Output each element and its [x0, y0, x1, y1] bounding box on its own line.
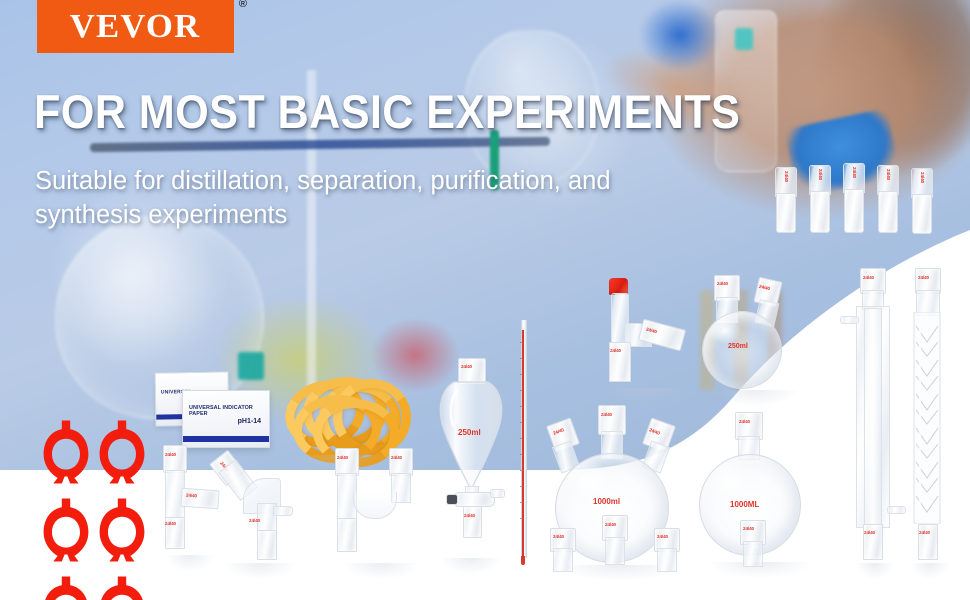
- joint-size-label: 24/40: [784, 171, 789, 182]
- keck-clip-icon: [38, 418, 94, 496]
- volume-label: 250ml: [728, 343, 748, 350]
- indicator-paper-title: UNIVERSAL INDICATOR PAPER: [189, 405, 269, 417]
- thermometer: [520, 320, 526, 565]
- joint-size-label: 24/40: [165, 452, 176, 457]
- keck-clip-icon: [94, 574, 150, 600]
- joint-size-label: 24/40: [920, 172, 925, 183]
- liebig-condenser: 24/40 24/40: [851, 268, 899, 563]
- glass-stopper: 24/40: [875, 165, 901, 239]
- u-bend-adapter: 24/40 24/40 24/40: [333, 448, 428, 563]
- keck-clip: [94, 496, 150, 574]
- keck-clip: [94, 574, 150, 600]
- product-showcase: UNIVERSAL UNIVERSAL INDICATOR PAPER pH1-…: [0, 0, 970, 600]
- joint-size-label: 24/40: [818, 169, 823, 180]
- joint-size-label: 24/40: [605, 522, 616, 527]
- joint-size-label: 24/40: [553, 534, 564, 539]
- coolant-inlet: [840, 316, 859, 324]
- keck-clips-group: [38, 418, 150, 573]
- thermometer-adapter: 24/40 24/40: [592, 278, 697, 388]
- indicator-paper-box-front: UNIVERSAL INDICATOR PAPER pH1-14: [182, 390, 270, 448]
- joint-size-label: 24/40: [863, 275, 874, 280]
- joint-size-label: 24/40: [464, 513, 475, 518]
- vevor-product-banner: VEVOR ® FOR MOST BASIC EXPERIMENTS Suita…: [0, 0, 970, 600]
- joint-size-label: 24/40: [186, 493, 197, 499]
- separatory-funnel: 24/40 250ml 24/40: [432, 358, 510, 558]
- small-joint-b: 24/40: [600, 515, 634, 570]
- glass-stopper: 24/40: [807, 165, 833, 239]
- glass-stoppers-group: 24/40 24/40 24/40 24/40 24/40: [773, 163, 933, 243]
- volume-label: 250ml: [458, 428, 481, 437]
- volume-label: 1000ml: [593, 497, 620, 506]
- joint-size-label: 24/40: [743, 526, 754, 531]
- small-joint-d: 24/40: [738, 520, 772, 572]
- joint-size-label: 24/40: [165, 521, 176, 526]
- two-neck-flask-250: 24/40 24/40 250ml: [700, 275, 810, 390]
- joint-size-label: 24/40: [739, 419, 750, 424]
- keck-clip-icon: [38, 496, 94, 574]
- joint-size-label: 24/40: [919, 530, 930, 535]
- joint-size-label: 24/40: [337, 455, 348, 460]
- ph-range-label: pH1-14: [238, 418, 261, 425]
- small-joint-c: 24/40: [652, 528, 686, 578]
- keck-clip: [94, 418, 150, 496]
- joint-size-label: 24/40: [918, 275, 929, 280]
- joint-size-label: 24/40: [461, 364, 472, 369]
- keck-clip: [38, 574, 94, 600]
- keck-clip: [38, 496, 94, 574]
- glass-stopper: 24/40: [773, 167, 799, 239]
- bend-adapter-75: 24/40 24/40: [215, 448, 305, 563]
- thermometer-bulb: [521, 556, 525, 565]
- joint-size-label: 24/40: [391, 455, 402, 460]
- vigreux-condenser: 24/40 24/40: [906, 268, 954, 563]
- coolant-outlet: [887, 506, 906, 514]
- keck-clip-icon: [94, 418, 150, 496]
- thermometer-liquid-column: [522, 330, 523, 558]
- keck-clip: [38, 418, 94, 496]
- small-joint-a: 24/40: [548, 528, 582, 578]
- latex-tubing-coil: [283, 375, 398, 455]
- joint-size-label: 24/40: [717, 281, 728, 286]
- vigreux-indentations: [912, 312, 942, 524]
- joint-size-label: 24/40: [610, 348, 621, 353]
- keck-clip-icon: [94, 496, 150, 574]
- joint-size-label: 24/40: [886, 169, 891, 180]
- volume-label: 1000ML: [730, 500, 759, 509]
- box-accent-bar: [183, 436, 269, 442]
- joint-size-label: 24/40: [657, 534, 668, 539]
- joint-size-label: 24/40: [601, 412, 612, 417]
- joint-size-label: 24/40: [249, 518, 260, 523]
- keck-clip-icon: [38, 574, 94, 600]
- glass-stopper: 24/40: [841, 163, 867, 239]
- joint-size-label: 24/40: [864, 530, 875, 535]
- joint-size-label: 24/40: [852, 167, 857, 178]
- glass-stopper: 24/40: [909, 168, 935, 240]
